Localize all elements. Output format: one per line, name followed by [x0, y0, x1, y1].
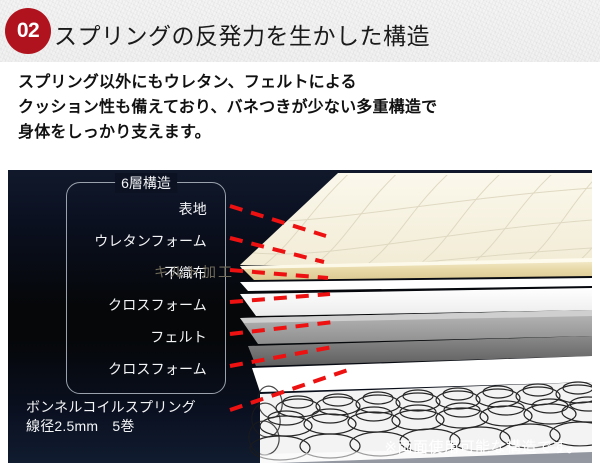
infographic-page: 02 スプリングの反発力を生かした構造 スプリング以外にもウレタン、フェルトによ… [0, 0, 600, 471]
layer-label-1: 表地 [179, 199, 207, 219]
coil-spring-label-line-1: ボンネルコイルスプリング [26, 398, 196, 417]
construction-diagram-panel: 6層構造 表地 ウレタンフォーム 不織布 クロスフォーム フェルト クロスフォー… [8, 170, 592, 463]
layer-label-5: フェルト [150, 327, 207, 347]
coil-spring-label-line-2: 線径2.5mm 5巻 [26, 417, 196, 436]
lead-line-2: クッション性も備えており、バネつきが少ない多重構造で [18, 95, 578, 120]
six-layer-bracket-legend: 6層構造 [115, 173, 177, 193]
coil-spring-label: ボンネルコイルスプリング 線径2.5mm 5巻 [26, 398, 196, 436]
lead-line-1: スプリング以外にもウレタン、フェルトによる [18, 70, 578, 95]
page-title: スプリングの反発力を生かした構造 [54, 17, 430, 51]
lead-paragraph: スプリング以外にもウレタン、フェルトによる クッション性も備えており、バネつきが… [18, 70, 578, 145]
lead-line-3: 身体をしっかり支えます。 [18, 120, 578, 145]
layer-label-6: クロスフォーム [108, 359, 207, 379]
step-number-label: 02 [17, 19, 39, 43]
layer-label-4: クロスフォーム [108, 295, 207, 315]
six-layer-bracket: 6層構造 表地 ウレタンフォーム 不織布 クロスフォーム フェルト クロスフォー… [66, 182, 226, 394]
layer-label-2: ウレタンフォーム [94, 231, 207, 251]
double-side-note: ※両面使用可能な構造です。 [384, 436, 582, 457]
quilt-process-label: キルト加工 [154, 262, 234, 282]
step-number-badge: 02 [5, 8, 51, 54]
